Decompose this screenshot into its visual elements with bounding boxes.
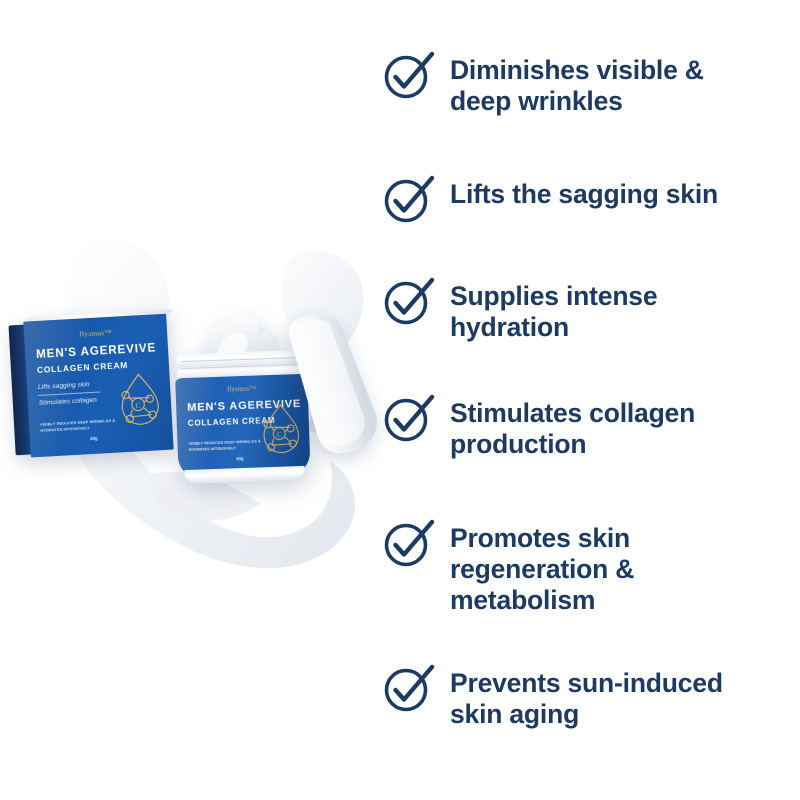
box-net-weight: 30g [90,436,98,441]
jar-brand-name: flysmus™ [176,383,308,396]
jar-net-weight: 30g [236,456,244,461]
box-front-panel: flysmus™ MEN'S AGEREVIVE COLLAGEN CREAM … [23,314,173,458]
product-benefits-page: flysmus™ MEN'S AGEREVIVE COLLAGEN CREAM … [0,0,800,800]
jar-fine-print: VISIBLY REDUCES DEEP WRINKLES & HYDRATES… [188,438,266,452]
box-brand-name: flysmus™ [24,325,167,342]
benefit-label: Promotes skin regeneration & metabolism [450,520,634,616]
jar-label: flysmus™ MEN'S AGEREVIVE COLLAGEN CREAM … [175,374,310,477]
check-circle-icon [382,274,436,328]
molecule-letter: C [135,401,141,410]
benefit-label: Lifts the sagging skin [450,176,718,210]
benefit-item-1: Diminishes visible & deep wrinkles [382,52,704,117]
benefits-list: Diminishes visible & deep wrinkles Lifts… [382,0,800,800]
benefit-item-6: Prevents sun-induced skin aging [382,665,723,730]
jar-product-title: MEN'S AGEREVIVE [187,398,301,414]
product-box: flysmus™ MEN'S AGEREVIVE COLLAGEN CREAM … [8,314,173,459]
box-product-title: MEN'S AGEREVIVE [36,341,157,361]
benefit-item-5: Promotes skin regeneration & metabolism [382,520,634,616]
check-circle-icon [382,48,436,102]
check-circle-icon [382,172,436,226]
check-circle-icon [382,391,436,445]
product-visual: flysmus™ MEN'S AGEREVIVE COLLAGEN CREAM … [0,230,390,590]
box-benefit-two: Stimulates collagen [39,397,98,407]
box-benefit-one: Lifts sagging skin [38,381,90,391]
jar-product-subtitle: COLLAGEN CREAM [188,416,276,428]
check-circle-icon [382,516,436,570]
benefit-label: Diminishes visible & deep wrinkles [450,52,704,117]
collagen-molecule-icon: C [258,400,304,460]
benefit-label: Supplies intense hydration [450,278,657,343]
benefit-item-4: Stimulates collagen production [382,395,695,460]
collagen-molecule-icon: C [115,369,164,431]
benefit-item-2: Lifts the sagging skin [382,176,718,226]
box-divider [38,391,100,395]
box-fine-print: VISIBLY REDUCES DEEP WRINKLES & HYDRATES… [40,418,119,434]
box-product-subtitle: COLLAGEN CREAM [37,360,129,375]
benefit-label: Prevents sun-induced skin aging [450,665,723,730]
molecule-letter: C [277,431,282,439]
check-circle-icon [382,661,436,715]
benefit-label: Stimulates collagen production [450,395,695,460]
jar-base [184,466,304,484]
benefit-item-3: Supplies intense hydration [382,278,657,343]
